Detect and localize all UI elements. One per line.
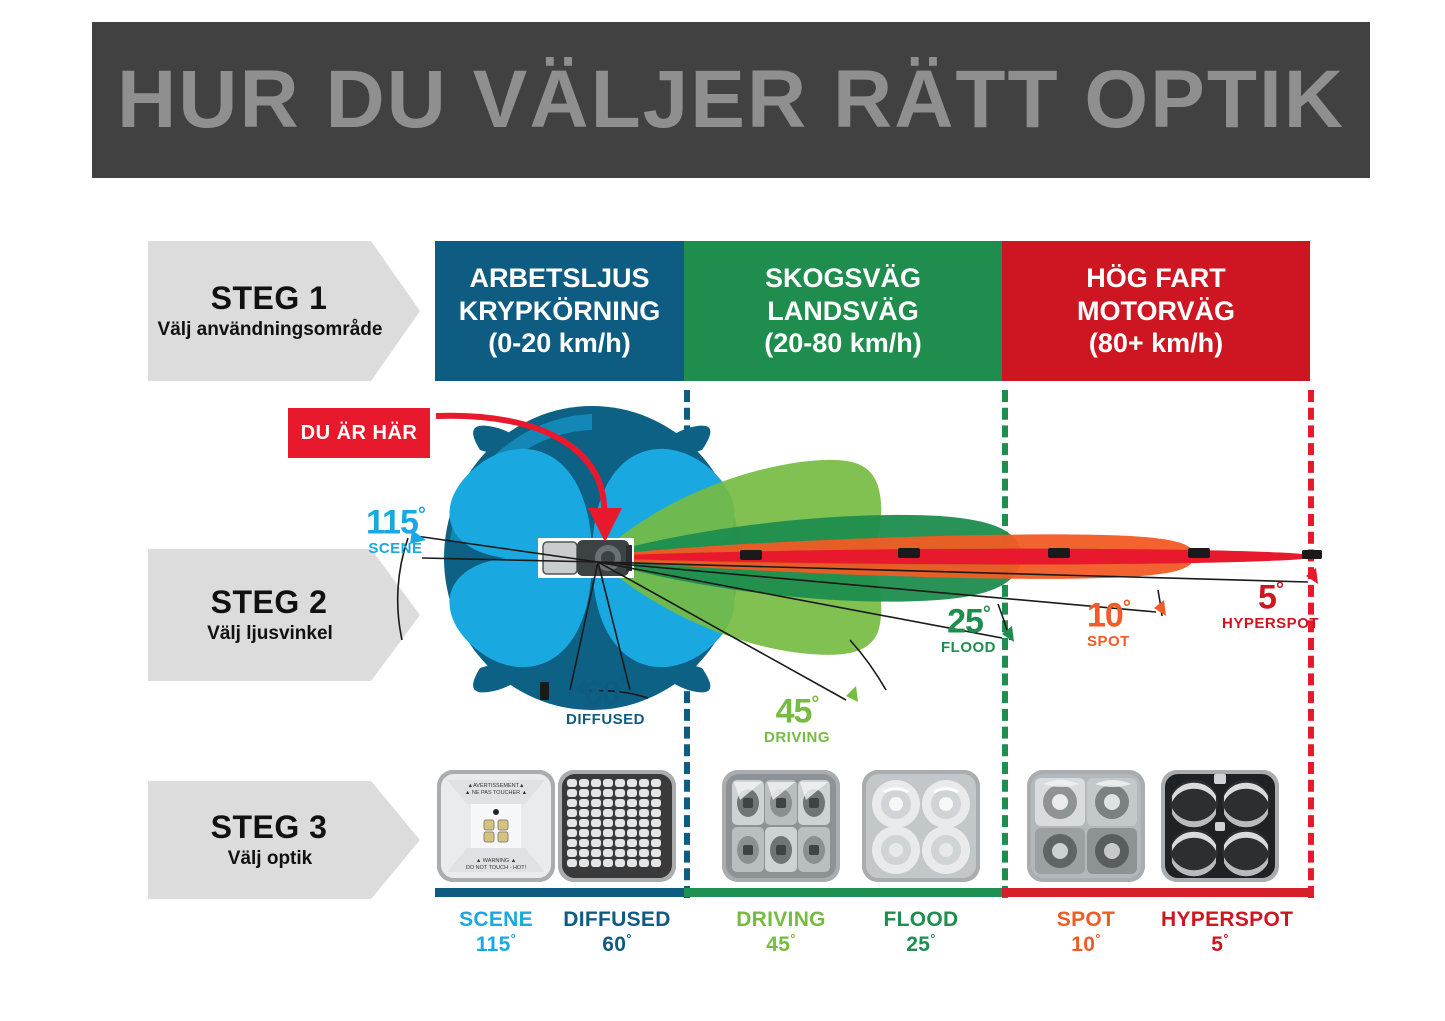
optic-name-driving: DRIVING: [736, 908, 826, 931]
angle-spot-name: SPOT: [1087, 634, 1130, 649]
optic-image-flood: [862, 770, 980, 882]
angle-hyperspot-degrees: 5: [1258, 578, 1276, 616]
step-3-subtitle: Välj optik: [222, 848, 346, 870]
category-panel-highway[interactable]: HÖG FART MOTORVÄG (80+ km/h): [1002, 241, 1310, 381]
angle-diffused-unit: °: [620, 675, 627, 697]
optic-name-diffused: DIFFUSED: [563, 908, 670, 931]
angle-diffused-degrees: 60: [584, 674, 620, 712]
angle-label-scene: 115° SCENE: [366, 505, 425, 556]
optic-caption-flood: FLOOD 25°: [862, 908, 980, 956]
category-work-speed: (0-20 km/h): [488, 327, 631, 360]
optic-degrees-driving: 45: [766, 933, 790, 956]
optic-image-scene: ▲AVERTISSEMENT▲ ▲ NE PAS TOUCHER ▲ ▲ WAR…: [437, 770, 555, 882]
colorbar-segment-forest: [684, 888, 1002, 897]
optic-caption-scene: SCENE 115°: [437, 908, 555, 956]
optic-option-diffused[interactable]: DIFFUSED 60°: [558, 770, 676, 956]
angle-label-spot: 10° SPOT: [1087, 598, 1130, 649]
angle-driving-degrees: 45: [776, 692, 812, 730]
angle-flood-unit: °: [983, 603, 990, 625]
angle-label-flood: 25° FLOOD: [941, 604, 996, 655]
angle-label-diffused: 60° DIFFUSED: [566, 676, 645, 727]
category-highway-line1: HÖG FART: [1086, 262, 1226, 295]
optic-name-flood: FLOOD: [884, 908, 959, 931]
optic-degrees-scene: 115: [476, 933, 511, 956]
beam-svg: [330, 390, 1340, 760]
step-3-title: STEG 3: [211, 810, 358, 845]
colorbar-segment-work: [435, 888, 684, 897]
step-tag-1: STEG 1 Välj användningsområde: [148, 241, 420, 381]
optic-option-flood[interactable]: FLOOD 25°: [862, 770, 980, 956]
category-forest-line1: SKOGSVÄG: [765, 262, 921, 295]
optic-unit-diffused: °: [626, 931, 632, 946]
angle-diffused-name: DIFFUSED: [566, 712, 645, 727]
page-title: HUR DU VÄLJER RÄTT OPTIK: [117, 59, 1345, 141]
beam-pattern-diagram: [330, 390, 1340, 760]
optic-degrees-spot: 10: [1071, 933, 1095, 956]
optic-degrees-flood: 25: [906, 933, 930, 956]
optic-degrees-hyperspot: 5: [1211, 933, 1223, 956]
optic-name-scene: SCENE: [459, 908, 533, 931]
angle-label-hyperspot: 5° HYPERSPOT: [1222, 580, 1319, 631]
optic-unit-spot: °: [1095, 931, 1101, 946]
svg-text:▲ WARNING ▲: ▲ WARNING ▲: [476, 858, 516, 864]
optic-option-spot[interactable]: SPOT 10°: [1027, 770, 1145, 956]
angle-flood-name: FLOOD: [941, 640, 996, 655]
optic-unit-flood: °: [930, 931, 936, 946]
vehicle-icon: [538, 538, 634, 578]
optic-option-driving[interactable]: DRIVING 45°: [722, 770, 840, 956]
angle-scene-degrees: 115: [366, 503, 418, 541]
svg-text:▲AVERTISSEMENT▲: ▲AVERTISSEMENT▲: [468, 783, 525, 789]
angle-flood-degrees: 25: [947, 602, 983, 640]
angle-scene-unit: °: [418, 504, 425, 526]
svg-text:▲ NE PAS TOUCHER ▲: ▲ NE PAS TOUCHER ▲: [465, 790, 527, 796]
category-highway-line2: MOTORVÄG: [1077, 295, 1235, 328]
optic-image-driving: [722, 770, 840, 882]
optic-option-scene[interactable]: ▲AVERTISSEMENT▲ ▲ NE PAS TOUCHER ▲ ▲ WAR…: [437, 770, 555, 956]
optic-caption-spot: SPOT 10°: [1027, 908, 1145, 956]
title-banner: HUR DU VÄLJER RÄTT OPTIK: [92, 22, 1370, 178]
step-tag-3: STEG 3 Välj optik: [148, 781, 420, 899]
step-1-subtitle: Välj användningsområde: [152, 319, 417, 341]
optic-option-hyperspot[interactable]: HYPERSPOT 5°: [1161, 770, 1279, 956]
angle-hyperspot-name: HYPERSPOT: [1222, 616, 1319, 631]
angle-scene-name: SCENE: [366, 541, 425, 556]
category-highway-speed: (80+ km/h): [1089, 327, 1223, 360]
you-are-here-label: DU ÄR HÄR: [301, 422, 418, 445]
category-forest-speed: (20-80 km/h): [764, 327, 922, 360]
optic-image-spot: [1027, 770, 1145, 882]
angle-driving-unit: °: [811, 693, 818, 715]
optic-unit-driving: °: [790, 931, 796, 946]
angle-label-driving: 45° DRIVING: [764, 694, 830, 745]
angle-driving-name: DRIVING: [764, 730, 830, 745]
angle-spot-degrees: 10: [1087, 596, 1123, 634]
angle-hyperspot-unit: °: [1276, 579, 1283, 601]
optic-image-hyperspot: [1161, 770, 1279, 882]
optic-degrees-diffused: 60: [602, 933, 626, 956]
optic-caption-diffused: DIFFUSED 60°: [558, 908, 676, 956]
category-work-line2: KRYPKÖRNING: [459, 295, 661, 328]
optic-name-hyperspot: HYPERSPOT: [1161, 908, 1293, 931]
category-panel-work[interactable]: ARBETSLJUS KRYPKÖRNING (0-20 km/h): [435, 241, 684, 381]
colorbar-segment-highway: [1002, 888, 1310, 897]
step-1-title: STEG 1: [211, 281, 358, 316]
optic-caption-driving: DRIVING 45°: [722, 908, 840, 956]
optic-unit-scene: °: [511, 931, 517, 946]
angle-spot-unit: °: [1123, 597, 1130, 619]
optic-unit-hyperspot: °: [1223, 931, 1229, 946]
category-panel-forest[interactable]: SKOGSVÄG LANDSVÄG (20-80 km/h): [684, 241, 1002, 381]
svg-text:DO NOT TOUCH - HOT!: DO NOT TOUCH - HOT!: [466, 865, 527, 871]
optic-name-spot: SPOT: [1057, 908, 1115, 931]
category-work-line1: ARBETSLJUS: [469, 262, 649, 295]
optic-caption-hyperspot: HYPERSPOT 5°: [1161, 908, 1279, 956]
category-forest-line2: LANDSVÄG: [767, 295, 919, 328]
you-are-here-badge: DU ÄR HÄR: [288, 408, 430, 458]
optic-image-diffused: [558, 770, 676, 882]
